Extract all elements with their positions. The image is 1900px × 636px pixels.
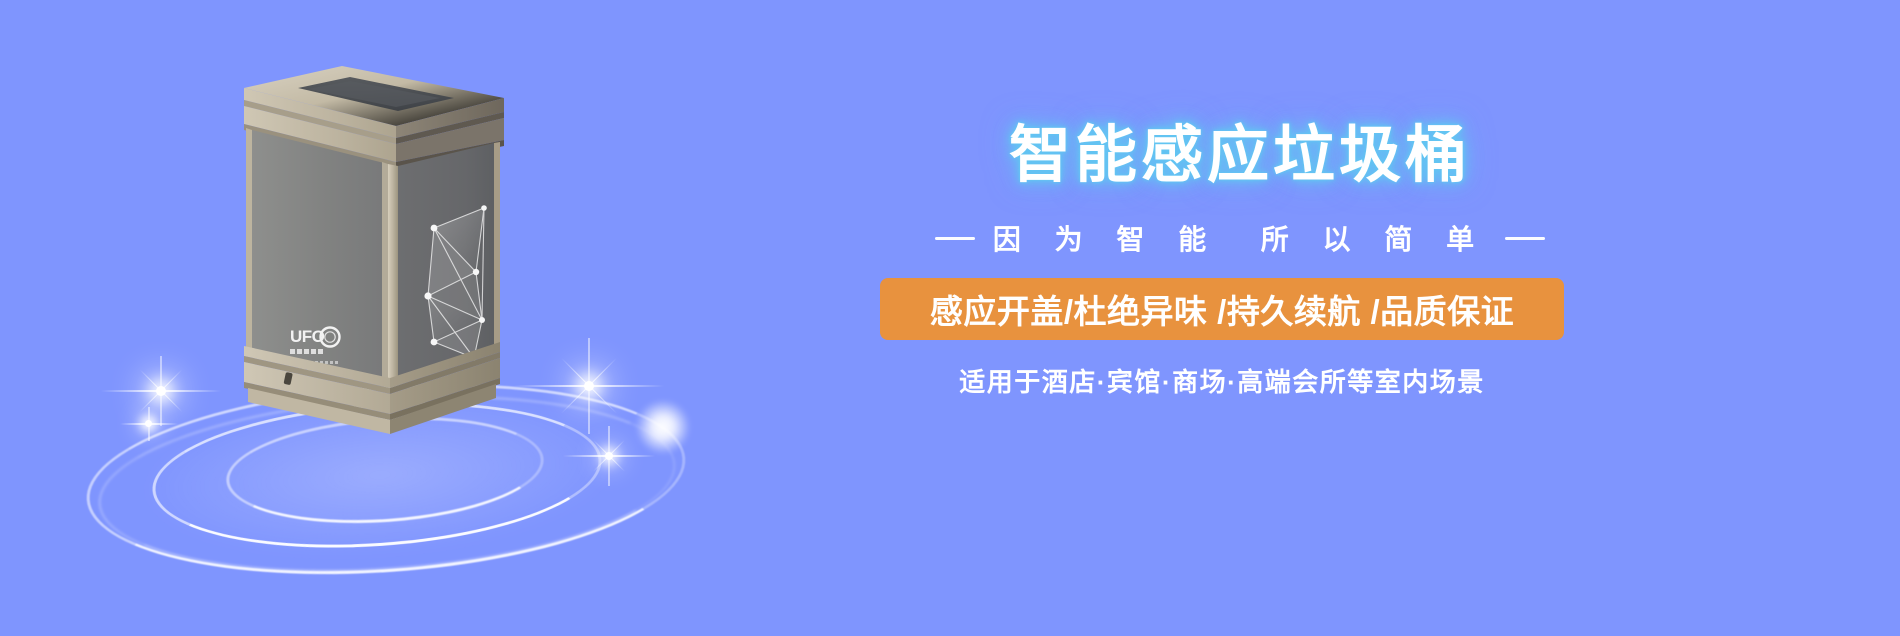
tagline-text: 因 为 智 能 所 以 简 单 <box>993 218 1487 258</box>
sparkle-glow-blob <box>636 400 690 454</box>
scene-note: 适用于酒店·宾馆·商场·高端会所等室内场景 <box>880 362 1564 399</box>
sparkle-icon-left-large <box>160 390 161 391</box>
sparkle-core <box>145 420 152 427</box>
bin-corner-trim <box>388 164 398 384</box>
marketing-copy-block: 智能感应垃圾桶 因 为 智 能 所 以 简 单 感应开盖/杜绝异味 /持久续航 … <box>880 0 1900 636</box>
sparkle-ray-horizontal <box>101 390 221 392</box>
promo-banner: UFO <box>0 0 1900 636</box>
feature-badge-text: 感应开盖/杜绝异味 /持久续航 /品质保证 <box>930 285 1514 333</box>
sparkle-icon-right-large <box>588 385 589 386</box>
tagline-row: 因 为 智 能 所 以 简 单 <box>880 218 1600 258</box>
feature-badge: 感应开盖/杜绝异味 /持久续航 /品质保证 <box>880 278 1564 340</box>
trash-bin-illustration: UFO <box>238 58 508 438</box>
sparkle-ray-diagonal-2 <box>139 369 182 412</box>
tagline-rule-right <box>1505 237 1545 240</box>
bin-polygon-graphic <box>424 205 486 360</box>
sparkle-ray-diagonal-1 <box>139 369 182 412</box>
sparkle-ray-diagonal-1 <box>560 357 616 413</box>
sparkle-ray-vertical <box>148 407 150 441</box>
sparkle-ray-vertical <box>588 338 590 434</box>
tagline-rule-left <box>935 237 975 240</box>
sparkle-ray-vertical <box>160 356 162 426</box>
sparkle-ray-diagonal-2 <box>560 357 616 413</box>
bin-right-edge-trim <box>494 142 500 346</box>
sparkle-icon-left-small <box>148 423 149 424</box>
page-title: 智能感应垃圾桶 <box>880 125 1600 187</box>
product-stage: UFO <box>0 0 860 636</box>
sparkle-ray-horizontal <box>120 423 178 425</box>
bin-left-edge-trim <box>246 128 252 350</box>
sparkle-ray-horizontal <box>514 385 664 387</box>
sparkle-core <box>584 381 594 391</box>
sparkle-core <box>156 386 166 396</box>
